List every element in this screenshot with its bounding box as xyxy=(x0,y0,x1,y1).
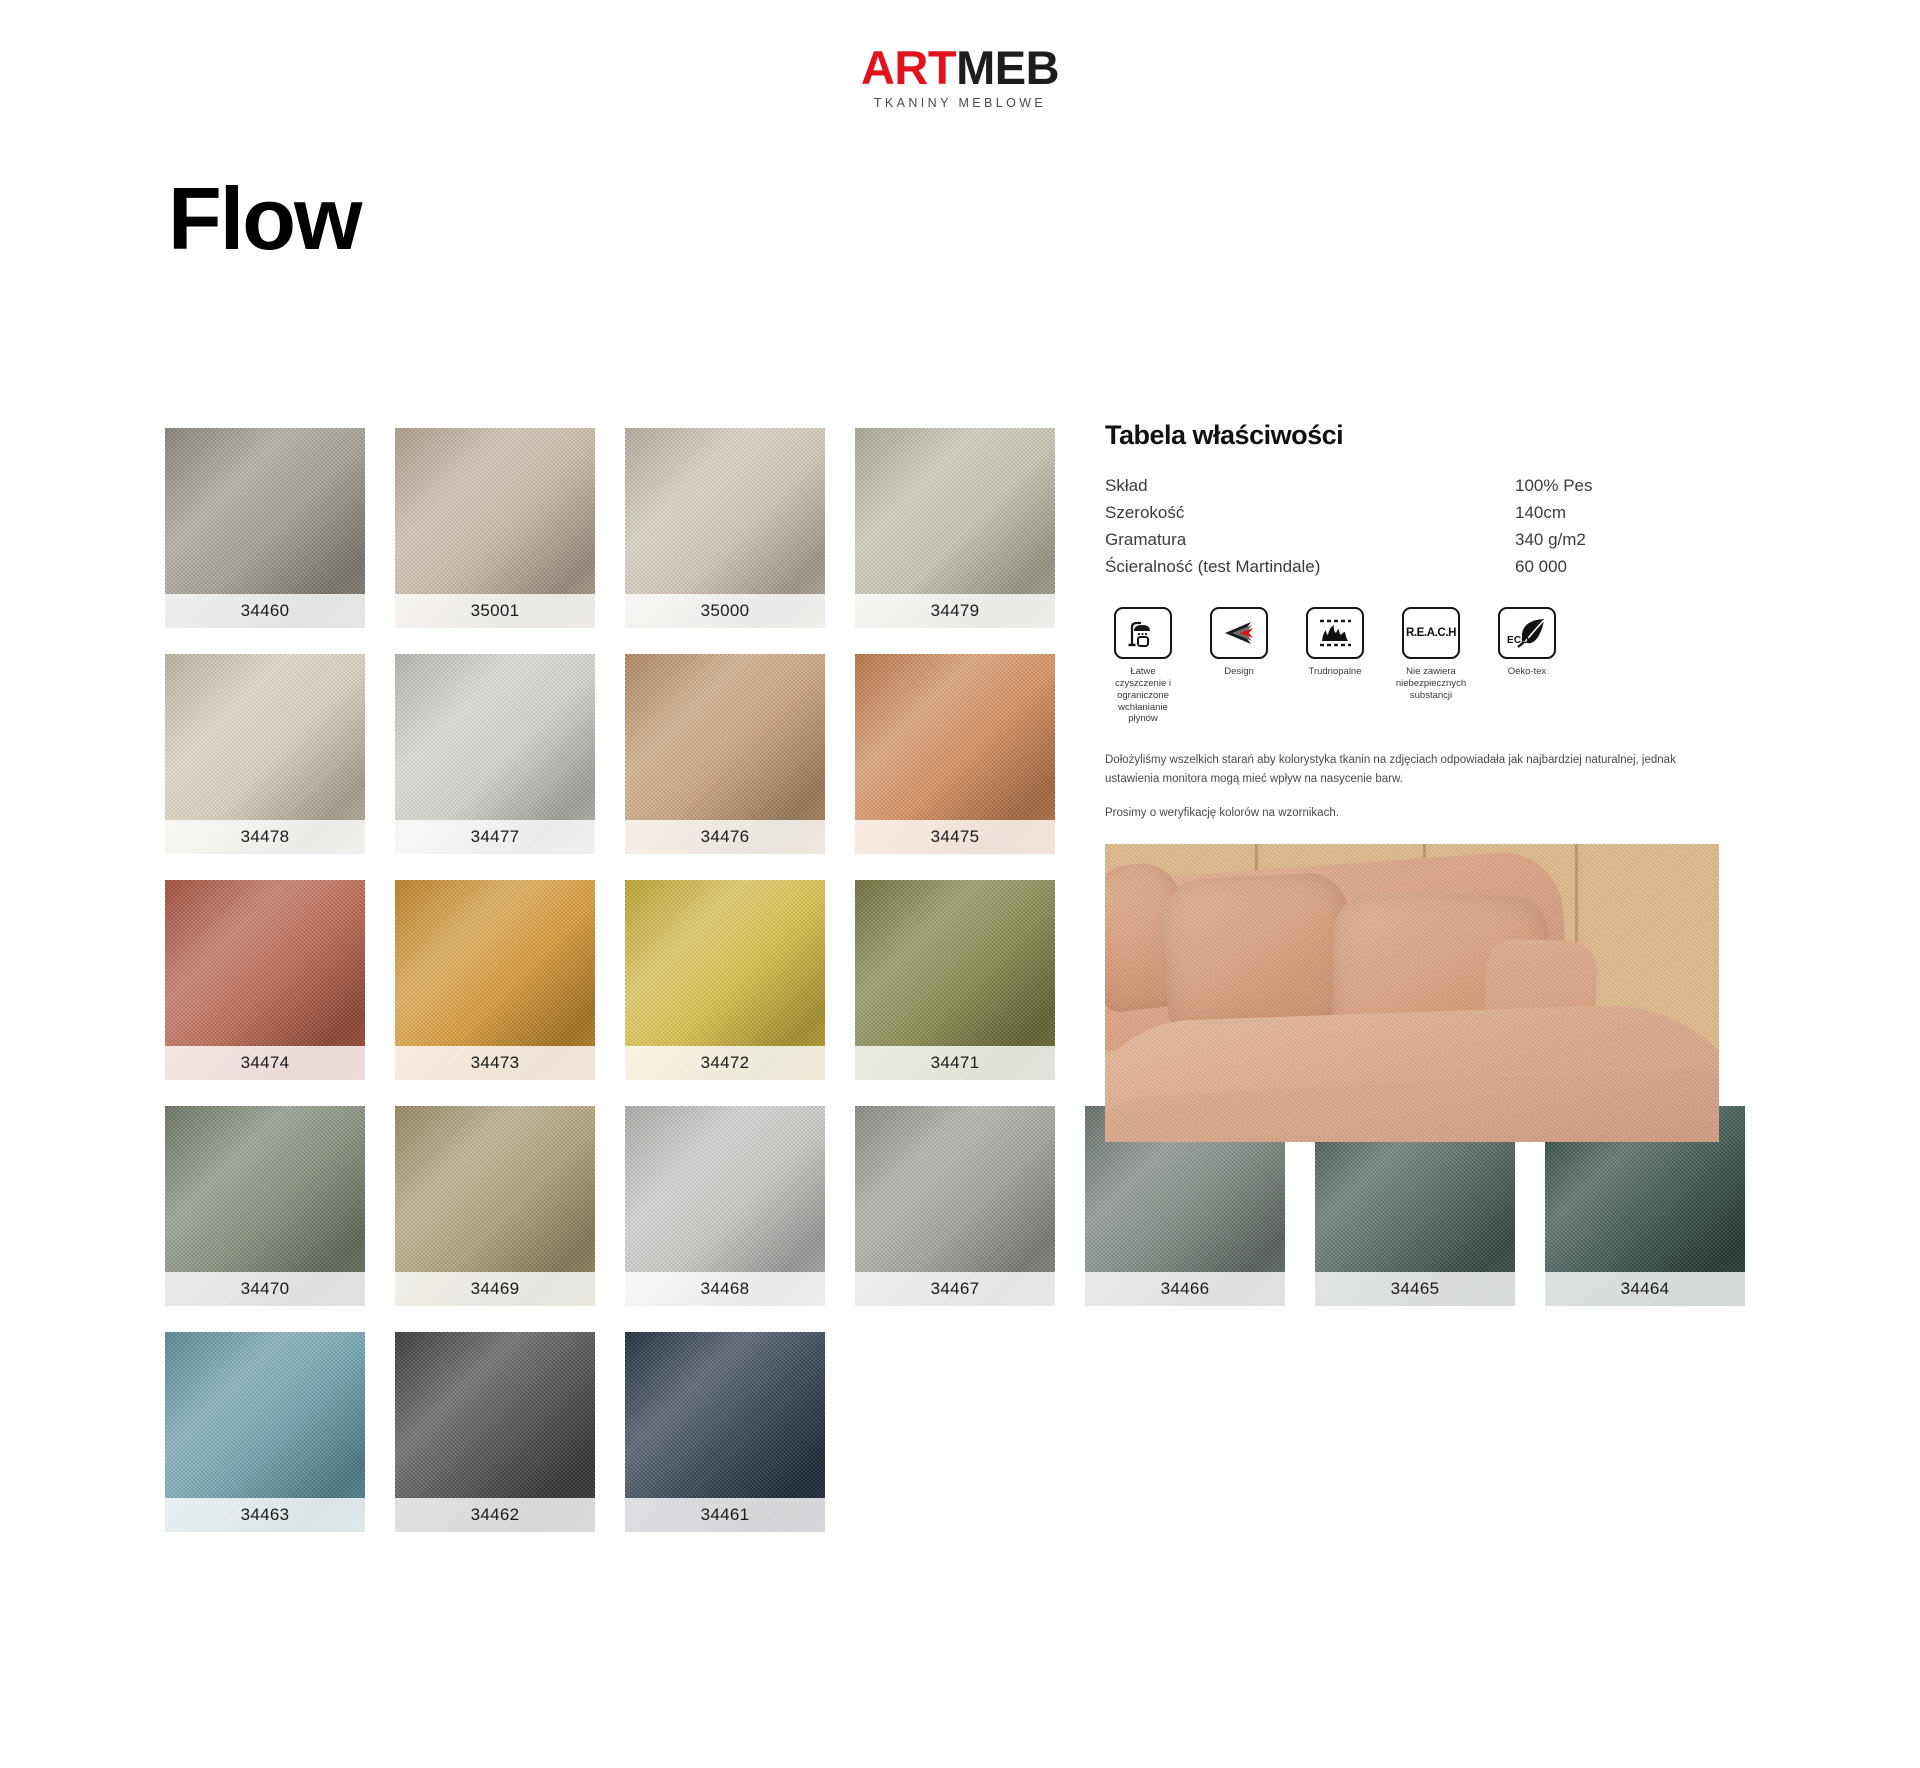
swatch-code-label: 34465 xyxy=(1315,1272,1515,1306)
disclaimer-paragraph-2: Prosimy o weryfikację kolorów na wzornik… xyxy=(1105,804,1715,822)
fabric-catalog-page: ARTMEB TKANINY MEBLOWE Flow 34460 35001 … xyxy=(0,0,1920,1768)
swatch-row-3: 34474 34473 34472 34471 xyxy=(165,880,1085,1080)
swatch-code-label: 34470 xyxy=(165,1272,365,1306)
swatch-item[interactable]: 35000 xyxy=(625,428,825,628)
swatch-item[interactable]: 34474 xyxy=(165,880,365,1080)
property-label: Gramatura xyxy=(1105,527,1515,554)
swatch-code-label: 34468 xyxy=(625,1272,825,1306)
property-value: 60 000 xyxy=(1515,554,1725,581)
property-value: 140cm xyxy=(1515,500,1725,527)
swatch-row-1: 34460 35001 35000 34479 xyxy=(165,428,1085,628)
icon-caption: Łatwe czyszczenie i ograniczone wchłania… xyxy=(1105,666,1181,725)
table-row: Ścieralność (test Martindale) 60 000 xyxy=(1105,554,1725,581)
swatch-item[interactable]: 34463 xyxy=(165,1332,365,1532)
icon-caption: Nie zawiera niebezpiecznych substancji xyxy=(1393,666,1469,702)
swatch-item[interactable]: 34473 xyxy=(395,880,595,1080)
table-row: Skład 100% Pes xyxy=(1105,473,1725,500)
swatch-code-label: 34477 xyxy=(395,820,595,854)
swatch-item[interactable]: 34469 xyxy=(395,1106,595,1306)
brand-logo: ARTMEB TKANINY MEBLOWE xyxy=(0,44,1920,110)
icon-caption: Trudnopalne xyxy=(1297,666,1373,678)
swatch-code-label: 34463 xyxy=(165,1498,365,1532)
swatch-code-label: 34471 xyxy=(855,1046,1055,1080)
color-disclaimer: Dołożyliśmy wszelkich starań aby kolorys… xyxy=(1105,751,1715,822)
swatch-code-label: 34462 xyxy=(395,1498,595,1532)
reach-badge-text: R.E.A.C.H xyxy=(1406,627,1456,639)
design-icon xyxy=(1210,607,1268,659)
swatch-item[interactable]: 34479 xyxy=(855,428,1055,628)
easy-clean-icon xyxy=(1114,607,1172,659)
swatch-code-label: 34467 xyxy=(855,1272,1055,1306)
property-label: Skład xyxy=(1105,473,1515,500)
swatch-row-5: 34463 34462 34461 xyxy=(165,1332,1085,1532)
properties-panel: Tabela właściwości Skład 100% Pes Szerok… xyxy=(1105,420,1725,1142)
swatch-item[interactable]: 34475 xyxy=(855,654,1055,854)
swatch-item[interactable]: 34460 xyxy=(165,428,365,628)
swatch-code-label: 34473 xyxy=(395,1046,595,1080)
swatch-row-2: 34478 34477 34476 34475 xyxy=(165,654,1085,854)
oeko-tex-icon: ECO xyxy=(1498,607,1556,659)
swatch-item[interactable]: 34472 xyxy=(625,880,825,1080)
certification-item: ECO Oeko-tex xyxy=(1489,607,1565,725)
certification-item: R.E.A.C.H Nie zawiera niebezpiecznych su… xyxy=(1393,607,1469,725)
swatch-item[interactable]: 34477 xyxy=(395,654,595,854)
table-row: Gramatura 340 g/m2 xyxy=(1105,527,1725,554)
swatch-item[interactable]: 34476 xyxy=(625,654,825,854)
reach-icon: R.E.A.C.H xyxy=(1402,607,1460,659)
swatch-code-label: 34476 xyxy=(625,820,825,854)
properties-table: Skład 100% Pes Szerokość 140cm Gramatura… xyxy=(1105,473,1725,581)
logo-meb-text: MEB xyxy=(956,41,1059,94)
swatch-code-label: 34472 xyxy=(625,1046,825,1080)
sofa-cushion xyxy=(1161,872,1354,1031)
certification-item: Design xyxy=(1201,607,1277,725)
swatch-item[interactable]: 34468 xyxy=(625,1106,825,1306)
swatch-code-label: 35001 xyxy=(395,594,595,628)
icon-caption: Design xyxy=(1201,666,1277,678)
swatch-item[interactable]: 34461 xyxy=(625,1332,825,1532)
icon-caption: Oeko-tex xyxy=(1489,666,1565,678)
swatch-code-label: 34466 xyxy=(1085,1272,1285,1306)
swatch-code-label: 34460 xyxy=(165,594,365,628)
swatch-item[interactable]: 34471 xyxy=(855,880,1055,1080)
properties-heading: Tabela właściwości xyxy=(1105,420,1725,451)
eco-badge-text: ECO xyxy=(1507,635,1529,646)
disclaimer-paragraph-1: Dołożyliśmy wszelkich starań aby kolorys… xyxy=(1105,751,1715,788)
swatch-code-label: 34478 xyxy=(165,820,365,854)
certification-item: Trudnopalne xyxy=(1297,607,1373,725)
swatch-item[interactable]: 34467 xyxy=(855,1106,1055,1306)
fabric-swatch-grid: 34460 35001 35000 34479 34478 3447 xyxy=(165,428,1085,1558)
swatch-item[interactable]: 34478 xyxy=(165,654,365,854)
swatch-code-label: 35000 xyxy=(625,594,825,628)
logo-tagline: TKANINY MEBLOWE xyxy=(0,96,1920,110)
logo-art-text: ART xyxy=(861,41,956,94)
property-label: Ścieralność (test Martindale) xyxy=(1105,554,1515,581)
swatch-code-label: 34474 xyxy=(165,1046,365,1080)
sofa-room-photo xyxy=(1105,844,1719,1142)
property-value: 100% Pes xyxy=(1515,473,1725,500)
logo-wordmark: ARTMEB xyxy=(861,44,1059,91)
collection-title: Flow xyxy=(168,175,360,263)
property-value: 340 g/m2 xyxy=(1515,527,1725,554)
property-label: Szerokość xyxy=(1105,500,1515,527)
swatch-code-label: 34461 xyxy=(625,1498,825,1532)
swatch-code-label: 34469 xyxy=(395,1272,595,1306)
swatch-item[interactable]: 35001 xyxy=(395,428,595,628)
table-row: Szerokość 140cm xyxy=(1105,500,1725,527)
flame-retardant-icon xyxy=(1306,607,1364,659)
certification-item: Łatwe czyszczenie i ograniczone wchłania… xyxy=(1105,607,1181,725)
swatch-code-label: 34479 xyxy=(855,594,1055,628)
certification-icons: Łatwe czyszczenie i ograniczone wchłania… xyxy=(1105,607,1725,725)
swatch-item[interactable]: 34470 xyxy=(165,1106,365,1306)
swatch-code-label: 34475 xyxy=(855,820,1055,854)
swatch-code-label: 34464 xyxy=(1545,1272,1745,1306)
swatch-item[interactable]: 34462 xyxy=(395,1332,595,1532)
